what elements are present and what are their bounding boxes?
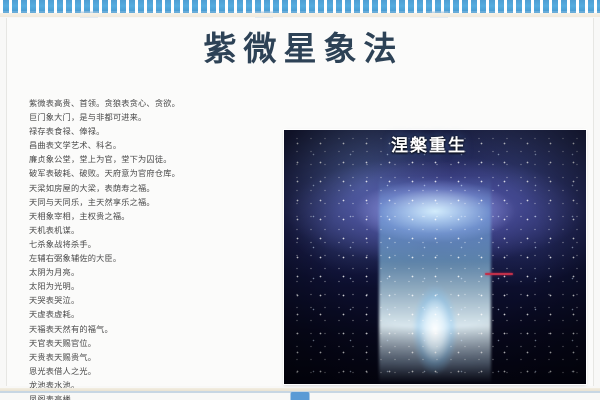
verse-line: 天福表天然有的福气。 bbox=[29, 322, 269, 336]
verse-line: 恩光表借人之光。 bbox=[29, 364, 269, 378]
figure-caption: 涅槃重生 bbox=[284, 131, 572, 156]
document-page: 紫微星象法 紫微表高贵、首领。贪狼表贪心、贪欲。 巨门象大门，是与非都可进来。 … bbox=[0, 0, 600, 400]
verse-line: 天同与天同乐，主天然享乐之福。 bbox=[29, 195, 269, 209]
verse-line: 左辅右弼象辅佐的大臣。 bbox=[29, 251, 269, 265]
verse-line: 太阳为光明。 bbox=[29, 279, 269, 293]
verse-line: 天相象宰相，主权贵之福。 bbox=[29, 209, 269, 223]
top-ornament-underline bbox=[0, 13, 600, 17]
verse-line: 凤阁表高楼 bbox=[29, 392, 269, 400]
verse-line: 紫微表高贵、首领。贪狼表贪心、贪欲。 bbox=[29, 96, 269, 110]
verse-line: 昌曲表文学艺术、科名。 bbox=[29, 138, 269, 152]
verse-line: 天官表天赐官位。 bbox=[29, 336, 269, 350]
footer-scroll-tab[interactable] bbox=[291, 392, 310, 400]
verse-line: 天贵表天赐贵气。 bbox=[29, 350, 269, 364]
verse-text-block: 紫微表高贵、首领。贪狼表贪心、贪欲。 巨门象大门，是与非都可进来。 禄存表食禄、… bbox=[29, 96, 269, 400]
page-title: 紫微星象法 bbox=[7, 31, 593, 67]
verse-line: 廉贞象公堂，堂上为官，堂下为囚徒。 bbox=[29, 152, 269, 166]
verse-line: 天梁如房屋的大梁，表荫寿之福。 bbox=[29, 181, 269, 195]
top-ornament-band bbox=[0, 0, 600, 13]
verse-line: 天机表机谋。 bbox=[29, 223, 269, 237]
content-canvas: 紫微星象法 紫微表高贵、首领。贪狼表贪心、贪欲。 巨门象大门，是与非都可进来。 … bbox=[6, 18, 594, 386]
verse-line: 巨门象大门，是与非都可进来。 bbox=[29, 110, 269, 124]
verse-line: 太阴为月亮。 bbox=[29, 265, 269, 279]
verse-line: 七杀象战将杀手。 bbox=[29, 237, 269, 251]
verse-line: 破军表破耗、破败。天府意为官府仓库。 bbox=[29, 166, 269, 180]
galaxy-nebula-image bbox=[284, 130, 586, 384]
image-vignette bbox=[284, 130, 586, 384]
verse-line: 禄存表食禄、俸禄。 bbox=[29, 124, 269, 138]
red-line-marker bbox=[485, 273, 513, 275]
verse-line: 天虚表虚耗。 bbox=[29, 307, 269, 321]
verse-line: 天哭表哭泣。 bbox=[29, 293, 269, 307]
